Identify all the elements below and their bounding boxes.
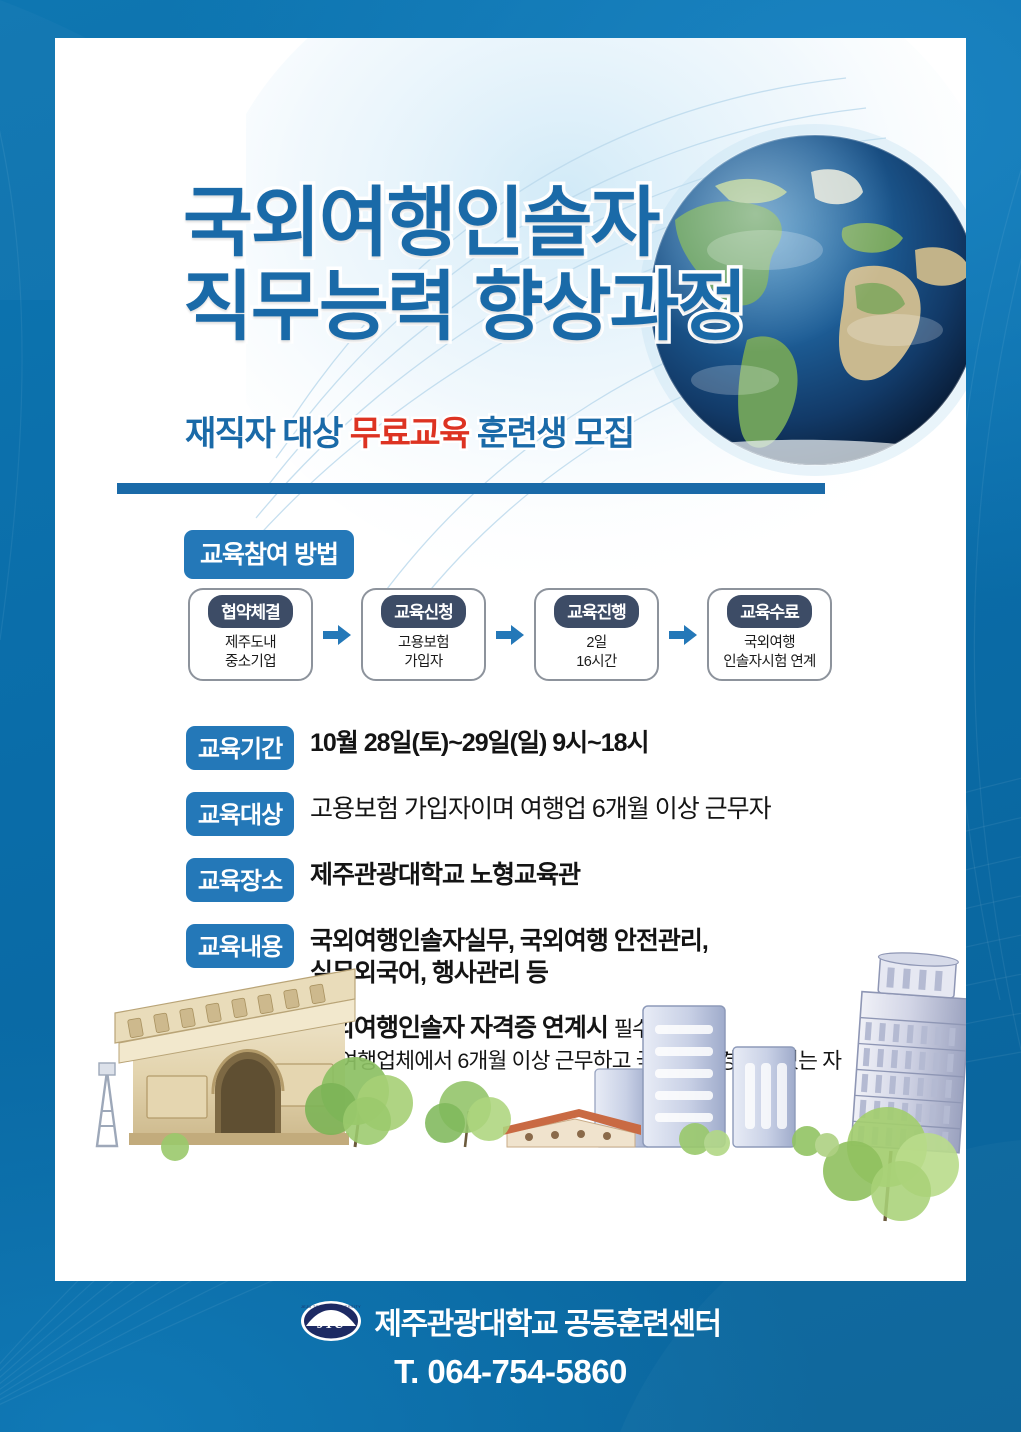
poster-footer: JTU JEJU TOURISM UNIVERSITY 제주관광대학교 공동훈련… <box>0 1281 1021 1432</box>
process-step: 협약체결 제주도내 중소기업 <box>188 588 313 681</box>
subtitle-part-1: 재직자 대상 <box>185 415 350 453</box>
detail-row-target: 교육대상 고용보험 가입자이며 여행업 6개월 이상 근무자 <box>186 792 966 836</box>
arrow-right-icon <box>659 624 707 646</box>
detail-value: 국외여행인솔자 자격증 연계시 필수조건 – 여행업체에서 6개월 이상 근무하… <box>310 1011 841 1076</box>
detail-value: 제주관광대학교 노형교육관 <box>310 858 580 891</box>
process-step-body: 2일 16시간 <box>576 634 616 672</box>
footer-organization-name: 제주관광대학교 공동훈련센터 <box>374 1299 720 1343</box>
detail-label: 교육대상 <box>186 792 294 836</box>
process-step-body: 제주도내 중소기업 <box>225 634 276 672</box>
footer-telephone: T. 064-754-5860 <box>394 1353 627 1391</box>
process-step-line1: 제주도내 <box>225 635 276 651</box>
detail-value-line1: 국외여행인솔자실무, 국외여행 안전관리, <box>310 927 708 955</box>
subtitle-highlight: 무료교육 <box>350 415 469 453</box>
process-step: 교육진행 2일 16시간 <box>534 588 659 681</box>
process-step-line2: 16시간 <box>576 654 616 670</box>
headline-line-2: 직무능력 향상과정 <box>183 270 883 346</box>
content-card: 국외여행인솔자 직무능력 향상과정 재직자 대상 무료교육 훈련생 모집 교육참… <box>55 38 966 1281</box>
process-step-line1: 국외여행 <box>744 635 795 651</box>
detail-label: 교육장소 <box>186 858 294 902</box>
detail-value: 국외여행인솔자실무, 국외여행 안전관리, 실무외국어, 행사관리 등 <box>310 924 708 989</box>
process-step: 교육신청 고용보험 가입자 <box>361 588 486 681</box>
process-step-title: 교육신청 <box>381 595 466 628</box>
footer-organization-block: JTU JEJU TOURISM UNIVERSITY 제주관광대학교 공동훈련… <box>300 1299 720 1343</box>
process-step-body: 국외여행 인솔자시험 연계 <box>723 634 816 672</box>
poster-root: 국외여행인솔자 직무능력 향상과정 재직자 대상 무료교육 훈련생 모집 교육참… <box>0 0 1021 1432</box>
jtu-logo-ring-text: JEJU TOURISM UNIVERSITY <box>301 1305 361 1309</box>
detail-row-place: 교육장소 제주관광대학교 노형교육관 <box>186 858 966 902</box>
process-step-title: 협약체결 <box>208 595 293 628</box>
villa-building-icon <box>503 1109 641 1147</box>
process-step-line1: 고용보험 <box>398 635 449 651</box>
jtu-logo: JTU JEJU TOURISM UNIVERSITY <box>300 1300 362 1342</box>
process-step-body: 고용보험 가입자 <box>398 634 449 672</box>
detail-row-content: 교육내용 국외여행인솔자실무, 국외여행 안전관리, 실무외국어, 행사관리 등 <box>186 924 966 989</box>
jtu-logo-text: JTU <box>317 1316 347 1332</box>
detail-value: 고용보험 가입자이며 여행업 6개월 이상 근무자 <box>310 792 771 825</box>
process-section-title: 교육참여 방법 <box>184 530 354 579</box>
detail-row-period: 교육기간 10월 28일(토)~29일(일) 9시~18시 <box>186 726 966 770</box>
detail-label: 기 타 <box>186 1011 294 1055</box>
subtitle-line: 재직자 대상 무료교육 훈련생 모집 <box>185 406 634 455</box>
detail-label: 교육내용 <box>186 924 294 968</box>
arrow-right-icon <box>313 624 361 646</box>
detail-value-line2: 실무외국어, 행사관리 등 <box>310 957 708 989</box>
detail-row-other: 기 타 국외여행인솔자 자격증 연계시 필수조건 – 여행업체에서 6개월 이상… <box>186 1011 966 1076</box>
detail-rows: 교육기간 10월 28일(토)~29일(일) 9시~18시 교육대상 고용보험 … <box>186 726 966 1098</box>
process-step: 교육수료 국외여행 인솔자시험 연계 <box>707 588 832 681</box>
process-step-line2: 가입자 <box>404 654 442 670</box>
detail-value-line1: 국외여행인솔자 자격증 연계시 <box>310 1014 614 1042</box>
arrow-right-icon <box>486 624 534 646</box>
detail-value-note: – 여행업체에서 6개월 이상 근무하고 국외여행 경험이 있는 자 <box>322 1048 841 1076</box>
headline-divider <box>117 483 825 494</box>
process-flow: 협약체결 제주도내 중소기업 교육신청 고용보험 가입자 <box>188 588 832 681</box>
process-step-line2: 인솔자시험 연계 <box>723 654 816 670</box>
process-step-title: 교육진행 <box>554 595 639 628</box>
detail-value-emphasis: 필수조건 <box>614 1018 687 1041</box>
tower-silhouette-icon <box>97 1063 117 1146</box>
subtitle-part-2: 훈련생 모집 <box>469 415 634 453</box>
process-step-title: 교육수료 <box>727 595 812 628</box>
detail-label: 교육기간 <box>186 726 294 770</box>
process-step-line1: 2일 <box>586 635 606 651</box>
detail-value: 10월 28일(토)~29일(일) 9시~18시 <box>310 726 649 759</box>
headline-block: 국외여행인솔자 직무능력 향상과정 <box>183 186 883 346</box>
headline-line-1: 국외여행인솔자 <box>183 186 883 262</box>
process-step-line2: 중소기업 <box>225 654 276 670</box>
